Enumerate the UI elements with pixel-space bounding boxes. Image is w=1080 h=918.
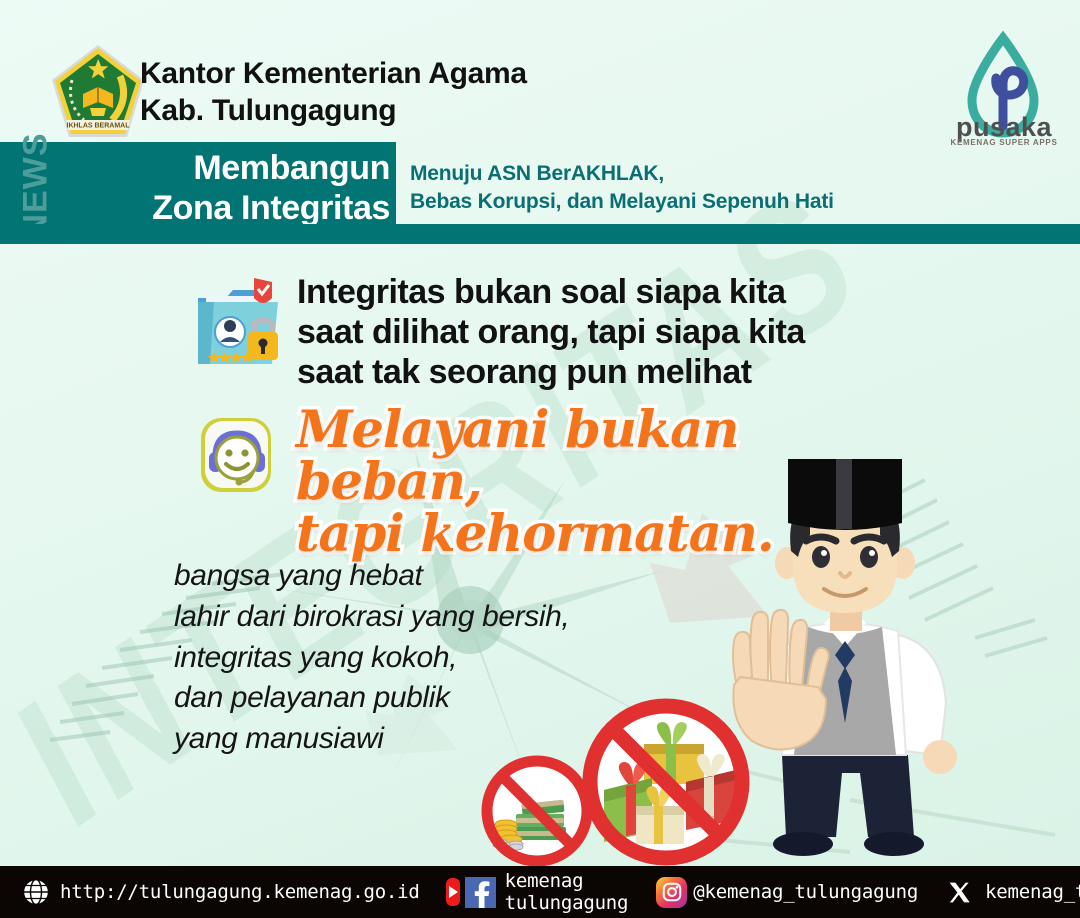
poster-canvas: INTEGRITAS: [0, 0, 1080, 918]
banner-title-line-1: Membangun: [90, 148, 390, 188]
kemenag-pentagon-logo: IKHLAS BERAMAL: [50, 42, 146, 142]
footer-website-text: http://tulungagung.kemenag.go.id: [60, 881, 420, 903]
quote1-line-3: saat tak seorang pun melihat: [297, 352, 897, 392]
footer-x[interactable]: kemenag_t_agung: [918, 877, 1080, 908]
x-twitter-icon: [944, 877, 975, 908]
facebook-icon: [465, 877, 496, 908]
banner-subtitle-line-2: Bebas Korupsi, dan Melayani Sepenuh Hati: [410, 188, 834, 216]
footer-facebook[interactable]: kemenag tulungagung: [460, 870, 629, 914]
banner-title: Membangun Zona Integritas: [90, 148, 390, 228]
organization-title: Kantor Kementerian Agama Kab. Tulungagun…: [140, 56, 527, 129]
quote3-line-3: integritas yang kokoh,: [174, 638, 734, 679]
poster-footer: http://tulungagung.kemenag.go.id kemenag…: [0, 866, 1080, 918]
quote-block-integritas: Integritas bukan soal siapa kita saat di…: [297, 272, 897, 392]
footer-facebook-text: kemenag tulungagung: [505, 870, 629, 914]
footer-instagram[interactable]: @kemenag_tulungagung: [628, 877, 918, 908]
news-label: NEWS: [17, 133, 56, 239]
smiley-headset-icon: [198, 414, 276, 496]
banner-title-line-2: Zona Integritas: [90, 188, 390, 228]
banner-subtitle-line-1: Menuju ASN BerAKHLAK,: [410, 160, 834, 188]
secure-folder-id-lock-icon: [192, 272, 284, 368]
quote1-line-1: Integritas bukan soal siapa kita: [297, 272, 897, 312]
news-banner-left-panel: NEWS Membangun Zona Integritas: [0, 142, 396, 234]
globe-icon: [22, 878, 50, 906]
instagram-icon: [656, 877, 687, 908]
footer-instagram-text: @kemenag_tulungagung: [693, 881, 918, 903]
footer-x-text: kemenag_t_agung: [985, 881, 1080, 903]
quote3-line-1: bangsa yang hebat: [174, 556, 734, 597]
org-line-1: Kantor Kementerian Agama: [140, 56, 527, 93]
banner-underbar: [0, 224, 1080, 244]
org-line-2: Kab. Tulungagung: [140, 93, 527, 130]
poster-header: IKHLAS BERAMAL Kantor Kementerian Agama …: [0, 0, 1080, 140]
banner-subtitle: Menuju ASN BerAKHLAK, Bebas Korupsi, dan…: [410, 160, 834, 215]
quote3-line-2: lahir dari birokrasi yang bersih,: [174, 597, 734, 638]
no-gift-prohibition-icon: [578, 694, 754, 870]
youtube-icon[interactable]: [446, 878, 460, 906]
quote1-line-2: saat dilihat orang, tapi siapa kita: [297, 312, 897, 352]
footer-website[interactable]: http://tulungagung.kemenag.go.id: [0, 878, 420, 906]
svg-text:IKHLAS BERAMAL: IKHLAS BERAMAL: [67, 123, 131, 130]
